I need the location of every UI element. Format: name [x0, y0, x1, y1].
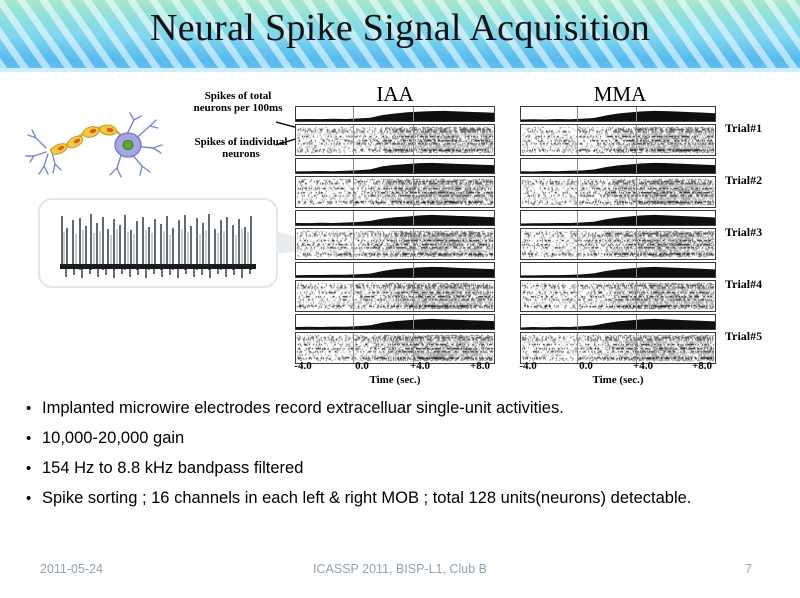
panel-gridline	[577, 333, 578, 363]
trial-label-4: Trial#4	[725, 277, 762, 292]
psth-panel	[520, 314, 716, 330]
psth-fill	[521, 211, 715, 225]
column-header-iaa: IAA	[330, 82, 460, 107]
raster-dots	[521, 281, 715, 311]
trial-label-3: Trial#3	[725, 225, 762, 240]
bullet-marker-icon: •	[26, 428, 42, 449]
bullet-marker-icon: •	[26, 398, 42, 419]
panel-gridline	[353, 211, 354, 225]
figure-region: Spikes of total neurons per 100ms Spikes…	[0, 72, 800, 392]
panel-gridline	[413, 281, 414, 311]
page-title: Neural Spike Signal Acquisition	[0, 6, 800, 50]
panel-gridline	[413, 333, 414, 363]
footer-page-number: 7	[745, 562, 752, 576]
panel-gridline	[636, 281, 637, 311]
trial-label-5: Trial#5	[725, 329, 762, 344]
panel-gridline	[353, 159, 354, 173]
bullet-text: Implanted microwire electrodes record ex…	[42, 398, 774, 419]
raster-panel	[520, 124, 716, 156]
panel-gridline	[636, 159, 637, 173]
bullet-marker-icon: •	[26, 488, 42, 509]
panel-gridline	[577, 263, 578, 277]
psth-fill	[521, 107, 715, 121]
panel-gridline	[636, 211, 637, 225]
trial-label-2: Trial#2	[725, 173, 762, 188]
axis-ticks-mma: -4.0 0.0 +4.0 +8.0	[520, 360, 716, 374]
panel-gridline	[636, 107, 637, 121]
raster-panel	[295, 124, 495, 156]
raster-dots	[296, 229, 494, 259]
panel-gridline	[577, 177, 578, 207]
raster-panel	[520, 280, 716, 312]
bullet-list: •Implanted microwire electrodes record e…	[26, 398, 774, 518]
panel-gridline	[413, 315, 414, 329]
panel-gridline	[413, 229, 414, 259]
raster-dots	[296, 333, 494, 363]
raster-dots	[296, 125, 494, 155]
panel-gridline	[636, 229, 637, 259]
raster-panel	[520, 176, 716, 208]
axis-tick-mma-3: +8.0	[685, 360, 719, 372]
neuron-icon	[22, 104, 172, 186]
raster-panel	[295, 280, 495, 312]
axis-title-mma: Time (sec.)	[520, 374, 716, 386]
bullet-item: •10,000-20,000 gain	[26, 428, 774, 449]
psth-panel	[295, 314, 495, 330]
spike-train-icon	[50, 206, 268, 282]
panel-gridline	[577, 315, 578, 329]
axis-tick-iaa-0: -4.0	[286, 360, 320, 372]
trial-label-1: Trial#1	[725, 121, 762, 136]
bullet-text: 10,000-20,000 gain	[42, 428, 774, 449]
panel-gridline	[413, 263, 414, 277]
axis-tick-iaa-1: 0.0	[345, 360, 379, 372]
panel-gridline	[413, 125, 414, 155]
axis-ticks-iaa: -4.0 0.0 +4.0 +8.0	[295, 360, 495, 374]
raster-dots	[521, 125, 715, 155]
panel-gridline	[636, 333, 637, 363]
panel-gridline	[353, 177, 354, 207]
raster-dots	[521, 229, 715, 259]
psth-panel	[295, 158, 495, 174]
psth-panel	[520, 106, 716, 122]
bullet-text: 154 Hz to 8.8 kHz bandpass filtered	[42, 458, 774, 479]
psth-fill	[521, 315, 715, 329]
panel-gridline	[413, 159, 414, 173]
psth-panel	[295, 106, 495, 122]
bullet-item: •Spike sorting ; 16 channels in each lef…	[26, 488, 774, 509]
raster-dots	[521, 333, 715, 363]
panel-gridline	[577, 107, 578, 121]
raster-dots	[296, 281, 494, 311]
psth-fill	[521, 159, 715, 173]
panel-gridline	[577, 281, 578, 311]
panel-gridline	[577, 125, 578, 155]
psth-fill	[296, 315, 494, 329]
annotation-spikes-total: Spikes of total neurons per 100ms	[186, 90, 290, 114]
psth-fill	[521, 263, 715, 277]
bullet-item: •154 Hz to 8.8 kHz bandpass filtered	[26, 458, 774, 479]
panel-gridline	[636, 177, 637, 207]
panel-gridline	[413, 107, 414, 121]
psth-panel	[520, 262, 716, 278]
panel-gridline	[353, 281, 354, 311]
panel-gridline	[353, 263, 354, 277]
psth-fill	[296, 263, 494, 277]
panel-gridline	[353, 229, 354, 259]
panel-gridline	[636, 125, 637, 155]
axis-title-iaa: Time (sec.)	[295, 374, 495, 386]
axis-tick-mma-0: -4.0	[511, 360, 545, 372]
panel-gridline	[577, 211, 578, 225]
spike-train-callout	[38, 198, 278, 288]
panel-gridline	[353, 125, 354, 155]
axis-tick-mma-2: +4.0	[626, 360, 660, 372]
slide-footer: 2011-05-24 ICASSP 2011, BISP-L1, Club B …	[0, 562, 800, 584]
raster-panel	[295, 228, 495, 260]
panel-gridline	[413, 177, 414, 207]
raster-dots	[296, 177, 494, 207]
psth-fill	[296, 107, 494, 121]
panel-gridline	[353, 107, 354, 121]
bullet-text: Spike sorting ; 16 channels in each left…	[42, 488, 774, 509]
psth-panel	[295, 262, 495, 278]
psth-panel	[295, 210, 495, 226]
psth-fill	[296, 211, 494, 225]
panel-gridline	[353, 333, 354, 363]
panel-gridline	[413, 211, 414, 225]
panel-gridline	[577, 159, 578, 173]
psth-panel	[520, 158, 716, 174]
psth-panel	[520, 210, 716, 226]
raster-dots	[521, 177, 715, 207]
axis-tick-iaa-2: +4.0	[403, 360, 437, 372]
psth-fill	[296, 159, 494, 173]
panel-gridline	[636, 263, 637, 277]
axis-tick-iaa-3: +8.0	[463, 360, 497, 372]
panel-gridline	[353, 315, 354, 329]
footer-conference: ICASSP 2011, BISP-L1, Club B	[0, 562, 800, 576]
raster-panel	[520, 228, 716, 260]
bullet-item: •Implanted microwire electrodes record e…	[26, 398, 774, 419]
axis-tick-mma-1: 0.0	[569, 360, 603, 372]
raster-panel	[295, 176, 495, 208]
bullet-marker-icon: •	[26, 458, 42, 479]
panel-gridline	[636, 315, 637, 329]
panel-gridline	[577, 229, 578, 259]
column-header-mma: MMA	[555, 82, 685, 107]
